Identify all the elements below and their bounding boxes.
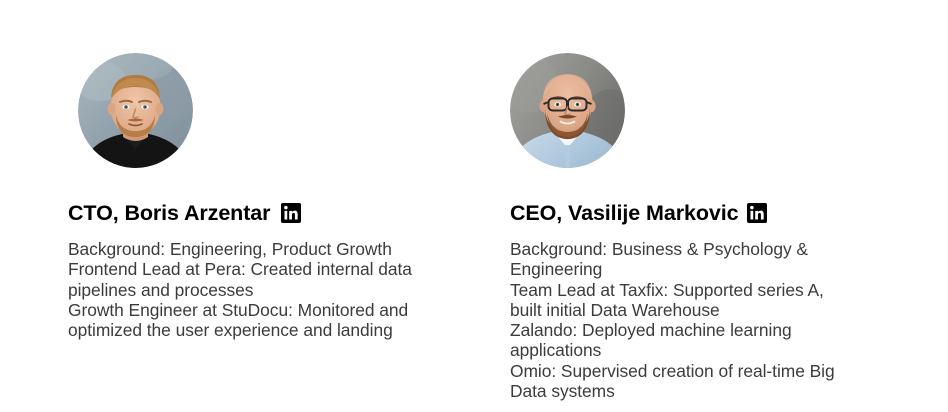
bio-line: Omio: Supervised creation of real-time B… [510,361,860,402]
bio-line: Team Lead at Taxfix: Supported series A,… [510,280,860,321]
profile-bio: Background: Engineering, Product Growth … [68,239,413,340]
profile-name-row: CEO, Vasilije Markovic [510,200,860,226]
profile-bio: Background: Business & Psychology & Engi… [510,239,860,401]
bio-line: Growth Engineer at StuDocu: Monitored an… [68,300,413,341]
profile-card-boris-arzentar: CTO, Boris Arzentar Background: Engineer… [68,53,413,340]
bio-line: Background: Business & Psychology & Engi… [510,239,860,280]
avatar-photo-boris [78,53,193,168]
avatar [510,53,625,168]
team-profiles-section: CTO, Boris Arzentar Background: Engineer… [0,0,948,412]
avatar [78,53,193,168]
linkedin-icon[interactable] [281,203,301,223]
bio-line: Zalando: Deployed machine learning appli… [510,320,860,361]
avatar-photo-vasilije [510,53,625,168]
profile-name-row: CTO, Boris Arzentar [68,200,413,226]
profile-name: CTO, Boris Arzentar [68,200,270,226]
profile-name: CEO, Vasilije Markovic [510,200,738,226]
linkedin-icon[interactable] [747,203,767,223]
bio-line: Frontend Lead at Pera: Created internal … [68,259,413,300]
profile-card-vasilije-markovic: CEO, Vasilije Markovic Background: Busin… [510,53,860,401]
bio-line: Background: Engineering, Product Growth [68,239,413,259]
